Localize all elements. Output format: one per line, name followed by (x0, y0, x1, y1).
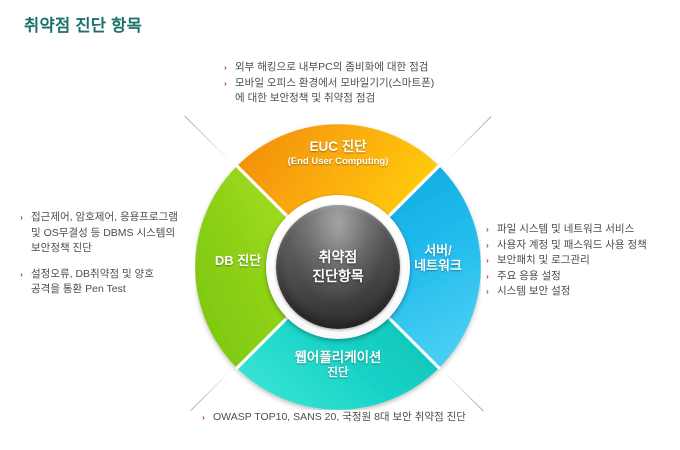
callout-db-list: › 접근제어, 암호제어, 응용프로그램 및 OS무결성 등 DBMS 시스템의… (20, 210, 178, 298)
list-item: › OWASP TOP10, SANS 20, 국정원 8대 보안 취약점 진단 (202, 410, 466, 426)
callout-web-application-list: › OWASP TOP10, SANS 20, 국정원 8대 보안 취약점 진단 (202, 410, 466, 426)
callout-euc: › 외부 해킹으로 내부PC의 좀비화에 대한 점검 › 모바일 오피스 환경에… (224, 60, 434, 107)
callout-server-network: › 파일 시스템 및 네트워크 서비스 › 사용자 계정 및 패스워드 사용 정… (486, 222, 647, 300)
list-item-text: 시스템 보안 설정 (497, 285, 570, 297)
bullet-icon: › (486, 222, 489, 237)
list-item-text: 외부 해킹으로 내부PC의 좀비화에 대한 점검 (235, 61, 428, 73)
page-title: 취약점 진단 항목 (24, 12, 142, 36)
callout-db: › 접근제어, 암호제어, 응용프로그램 및 OS무결성 등 DBMS 시스템의… (20, 210, 178, 298)
list-item: › 접근제어, 암호제어, 응용프로그램 및 OS무결성 등 DBMS 시스템의… (20, 210, 178, 257)
list-item: › 설정오류, DB취약점 및 양호 공격을 통환 Pen Test (20, 267, 178, 298)
list-item: › 사용자 계정 및 패스워드 사용 정책 (486, 238, 647, 254)
center-hub[interactable]: 취약점 진단항목 (266, 195, 410, 339)
list-item: › 보안패치 및 로그관리 (486, 253, 647, 269)
list-item-text-cont: 공격을 통환 Pen Test (31, 282, 178, 298)
bullet-icon: › (202, 410, 205, 425)
bullet-icon: › (486, 253, 489, 268)
bullet-icon: › (20, 210, 23, 225)
bullet-icon: › (486, 238, 489, 253)
list-item: › 외부 해킹으로 내부PC의 좀비화에 대한 점검 (224, 60, 434, 76)
center-hub-line1: 취약점 (319, 249, 358, 265)
list-item-text-cont: 및 OS무결성 등 DBMS 시스템의 (31, 226, 178, 242)
list-item-text: 사용자 계정 및 패스워드 사용 정책 (497, 239, 647, 251)
callout-server-network-list: › 파일 시스템 및 네트워크 서비스 › 사용자 계정 및 패스워드 사용 정… (486, 222, 647, 300)
list-item-text-cont2: 보안정책 진단 (31, 241, 178, 257)
bullet-icon: › (20, 267, 23, 282)
list-item-text: 보안패치 및 로그관리 (497, 254, 590, 266)
bullet-icon: › (224, 76, 227, 91)
list-item-text: 모바일 오피스 환경에서 모바일기기(스마트폰) (235, 77, 434, 89)
center-hub-label: 취약점 진단항목 (312, 248, 364, 286)
list-item: › 모바일 오피스 환경에서 모바일기기(스마트폰) 에 대한 보안정책 및 취… (224, 76, 434, 107)
list-item-text: 접근제어, 암호제어, 응용프로그램 (31, 211, 178, 223)
diagram-canvas: 취약점 진단 항목 (0, 0, 680, 450)
list-item: › 주요 응용 설정 (486, 269, 647, 285)
list-item: › 파일 시스템 및 네트워크 서비스 (486, 222, 647, 238)
list-item-text: 주요 응용 설정 (497, 270, 561, 282)
callout-euc-list: › 외부 해킹으로 내부PC의 좀비화에 대한 점검 › 모바일 오피스 환경에… (224, 60, 434, 107)
list-item-text: 파일 시스템 및 네트워크 서비스 (497, 223, 634, 235)
bullet-icon: › (224, 60, 227, 75)
list-item-text: 설정오류, DB취약점 및 양호 (31, 268, 154, 280)
list-item-text-cont: 에 대한 보안정책 및 취약점 점검 (235, 91, 434, 107)
bullet-icon: › (486, 269, 489, 284)
center-hub-line2: 진단항목 (312, 268, 364, 284)
center-hub-sphere: 취약점 진단항목 (276, 205, 400, 329)
list-item-text: OWASP TOP10, SANS 20, 국정원 8대 보안 취약점 진단 (213, 411, 466, 423)
bullet-icon: › (486, 284, 489, 299)
callout-web-application: › OWASP TOP10, SANS 20, 국정원 8대 보안 취약점 진단 (202, 410, 466, 426)
list-item: › 시스템 보안 설정 (486, 284, 647, 300)
